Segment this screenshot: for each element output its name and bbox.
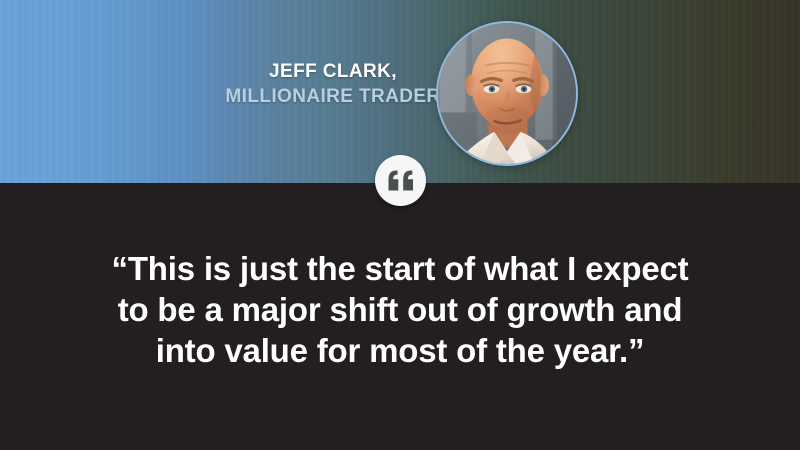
quotation-mark-icon (388, 170, 414, 191)
quote-line-3: into value for most of the year.” (0, 330, 800, 371)
quote-text-block: “This is just the start of what I expect… (0, 248, 800, 371)
portrait-photo-image (438, 23, 576, 164)
speaker-portrait (436, 21, 578, 166)
quote-mark-badge (375, 155, 426, 206)
quote-line-2: to be a major shift out of growth and (0, 289, 800, 330)
quote-line-1: “This is just the start of what I expect (0, 248, 800, 289)
quote-card: JEFF CLARK, MILLIONAIRE TRADER (0, 0, 800, 450)
